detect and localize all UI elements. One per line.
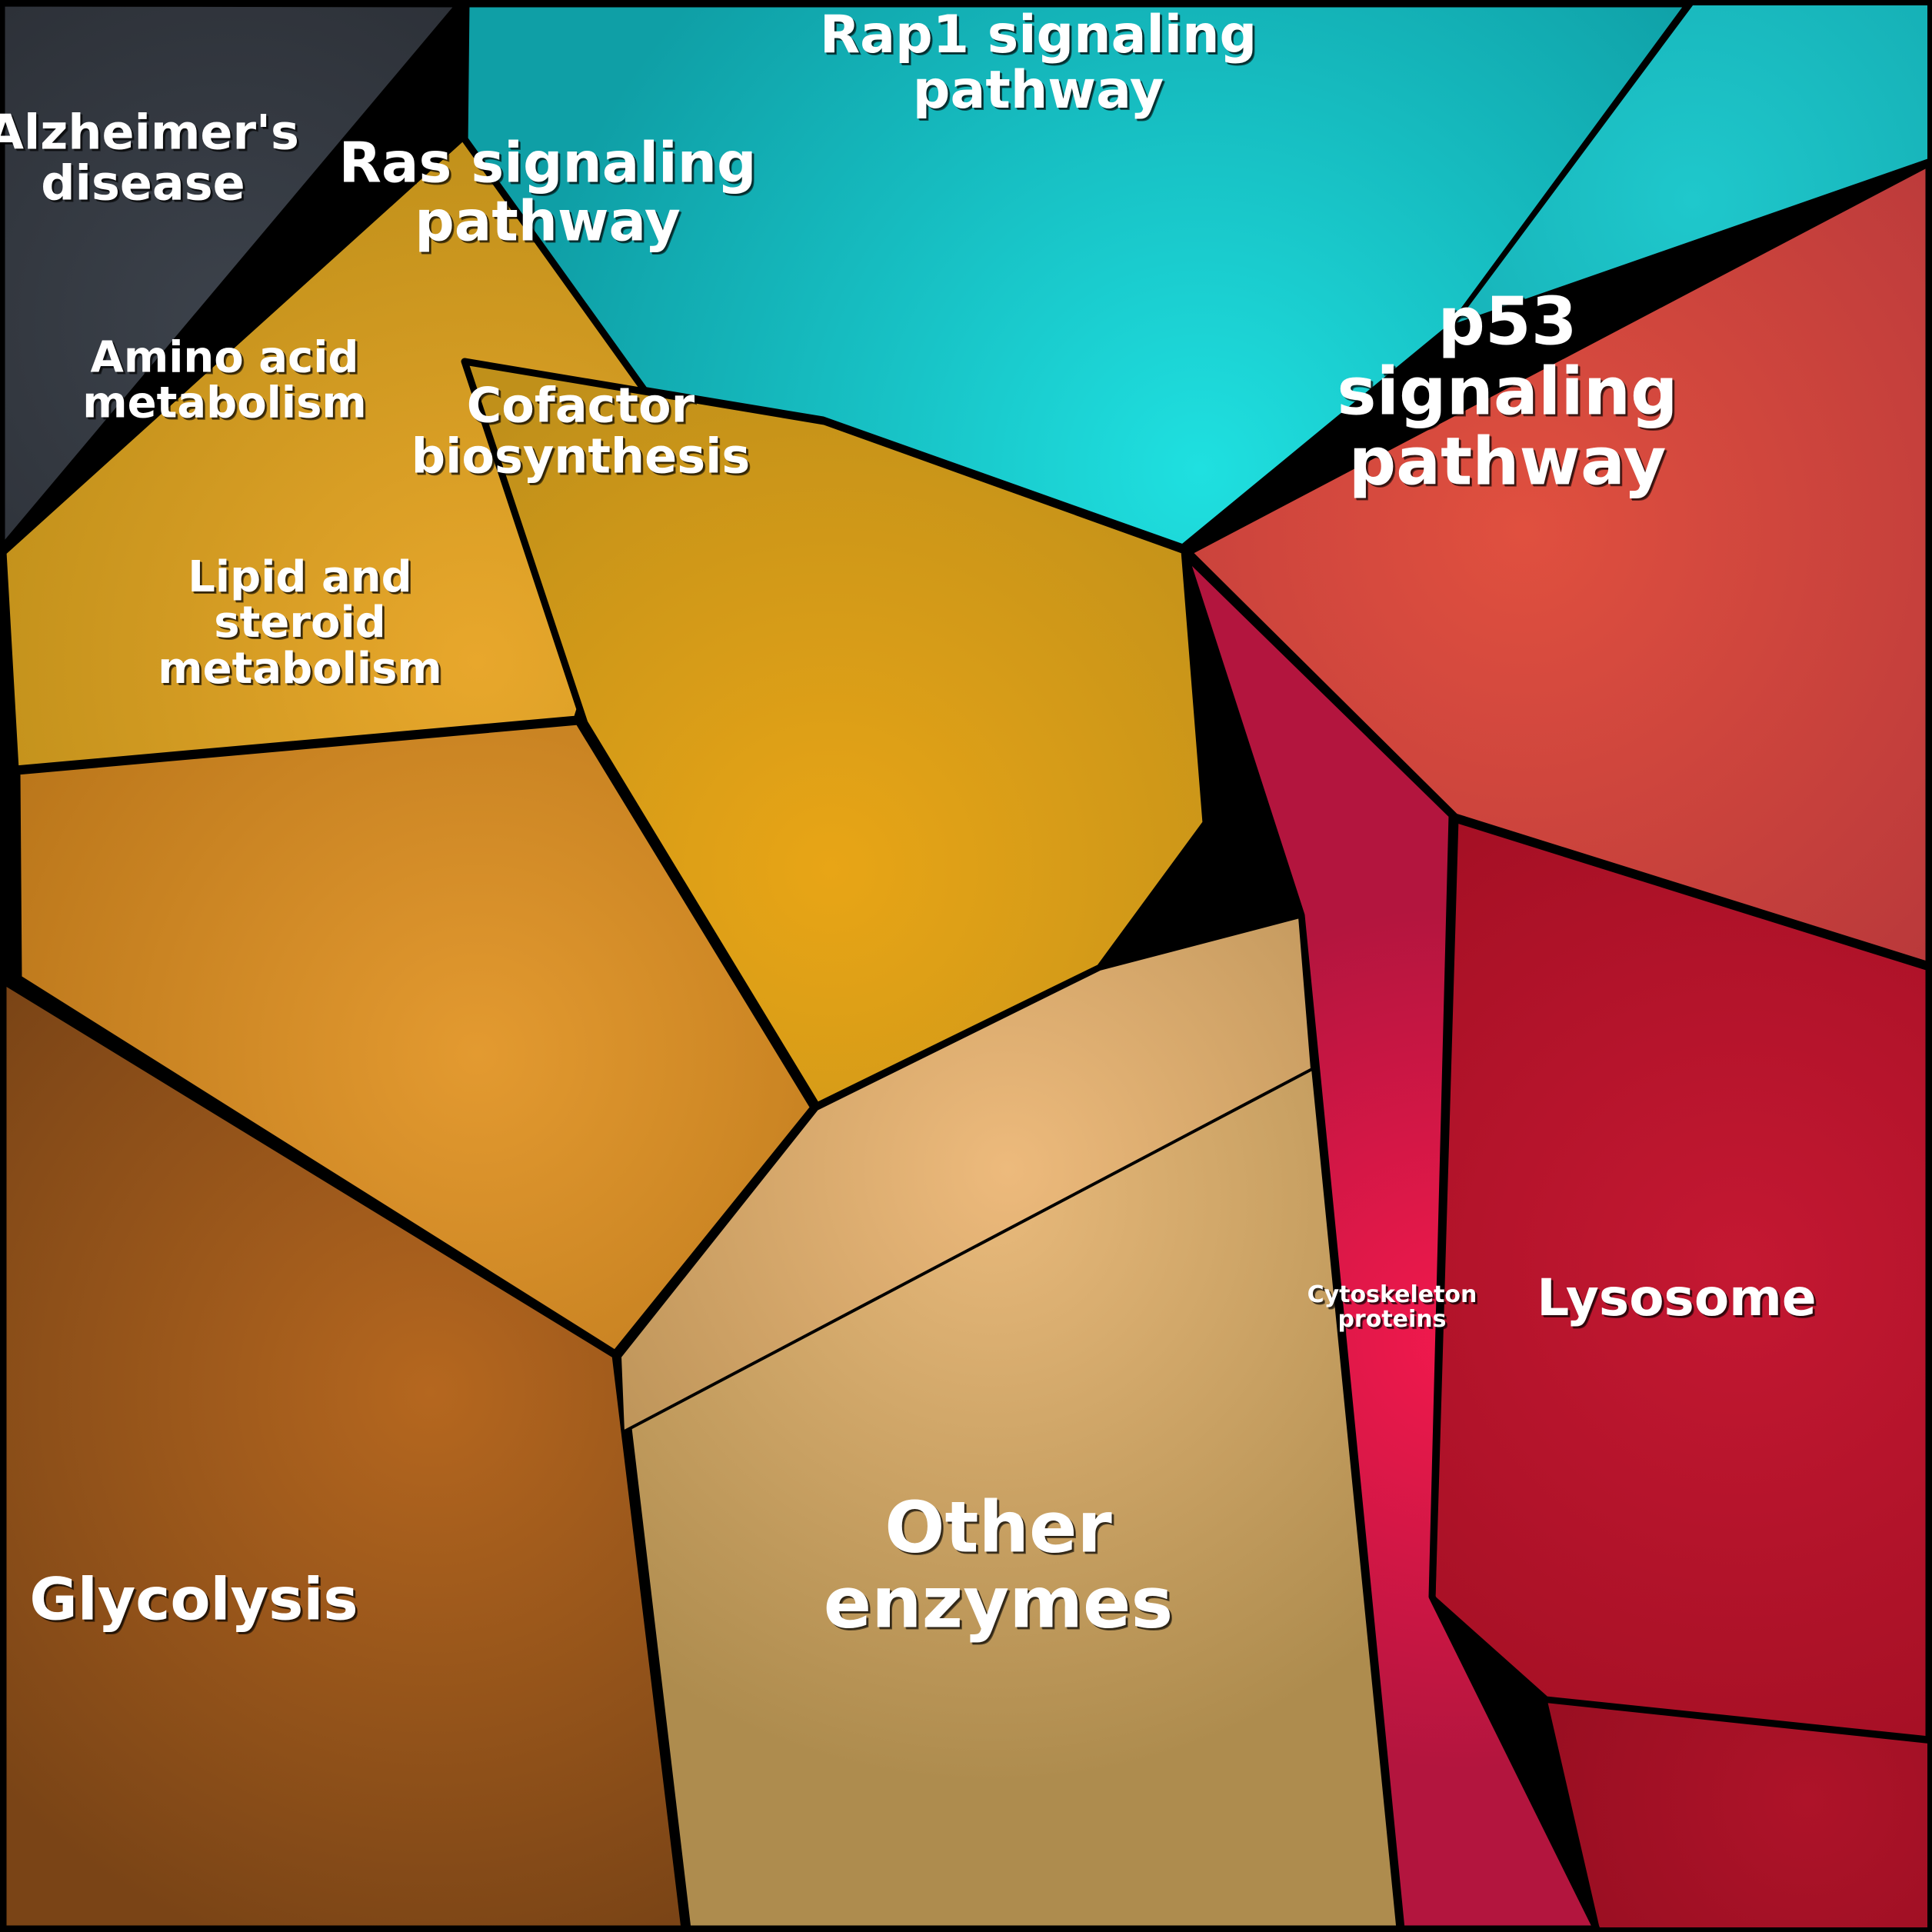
voronoi-cell-lysosome-lower[interactable] [1546, 1701, 1929, 1929]
voronoi-cell-lysosome[interactable] [1432, 819, 1929, 1740]
voronoi-treemap-figure: Alzheimer's diseaseRas signaling pathway… [0, 0, 1932, 1932]
voronoi-cells-svg [0, 0, 1932, 1932]
